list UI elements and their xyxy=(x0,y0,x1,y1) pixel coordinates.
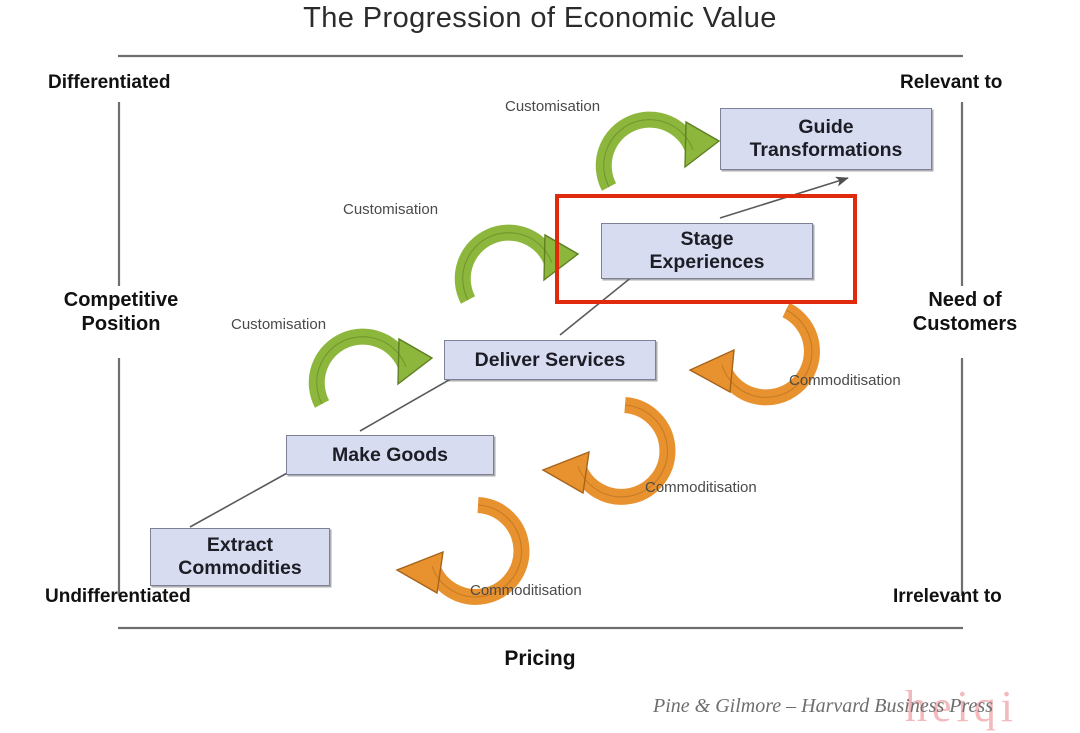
stage-box-stage-experiences[interactable]: Stage Experiences xyxy=(601,223,813,279)
axis-label-differentiated: Differentiated xyxy=(48,72,170,94)
stage-experiences-line1: Stage xyxy=(650,228,765,251)
stage-box-extract-commodities[interactable]: Extract Commodities xyxy=(150,528,330,586)
stage-box-guide-transformations[interactable]: Guide Transformations xyxy=(720,108,932,170)
stage-experiences-line2: Experiences xyxy=(650,251,765,274)
guide-transformations-line2: Transformations xyxy=(750,139,903,162)
competitive-position-line1: Competitive xyxy=(38,288,204,312)
competitive-position-line2: Position xyxy=(38,312,204,336)
deliver-services-line1: Deliver Services xyxy=(475,349,626,372)
extract-commodities-line1: Extract xyxy=(178,534,302,557)
need-of-customers-line1: Need of xyxy=(880,288,1050,312)
customisation-arrow-3 xyxy=(604,120,719,187)
flow-label-commoditisation-3: Commoditisation xyxy=(470,582,582,599)
flow-label-customisation-1: Customisation xyxy=(231,316,326,333)
make-goods-line1: Make Goods xyxy=(332,444,448,467)
axis-label-irrelevant-to: Irrelevant to xyxy=(893,586,1002,608)
diagram-canvas: The Progression of Economic Value xyxy=(0,0,1080,733)
extract-commodities-line2: Commodities xyxy=(178,557,302,580)
flow-label-customisation-3: Customisation xyxy=(505,98,600,115)
axis-label-relevant-to: Relevant to xyxy=(900,72,1002,94)
guide-transformations-line1: Guide xyxy=(750,116,903,139)
customisation-arrow-1 xyxy=(317,337,432,404)
axis-label-need-of-customers: Need of Customers xyxy=(880,288,1050,336)
flow-label-commoditisation-2: Commoditisation xyxy=(645,479,757,496)
credit-line: Pine & Gilmore – Harvard Business Press xyxy=(653,695,993,718)
need-of-customers-line2: Customers xyxy=(880,312,1050,336)
axis-label-competitive-position: Competitive Position xyxy=(38,288,204,336)
stage-box-make-goods[interactable]: Make Goods xyxy=(286,435,494,475)
stage-box-deliver-services[interactable]: Deliver Services xyxy=(444,340,656,380)
page-title: The Progression of Economic Value xyxy=(0,2,1080,35)
flow-label-customisation-2: Customisation xyxy=(343,201,438,218)
axis-label-pricing: Pricing xyxy=(0,647,1080,672)
axis-label-undifferentiated: Undifferentiated xyxy=(45,586,191,608)
flow-label-commoditisation-1: Commoditisation xyxy=(789,372,901,389)
